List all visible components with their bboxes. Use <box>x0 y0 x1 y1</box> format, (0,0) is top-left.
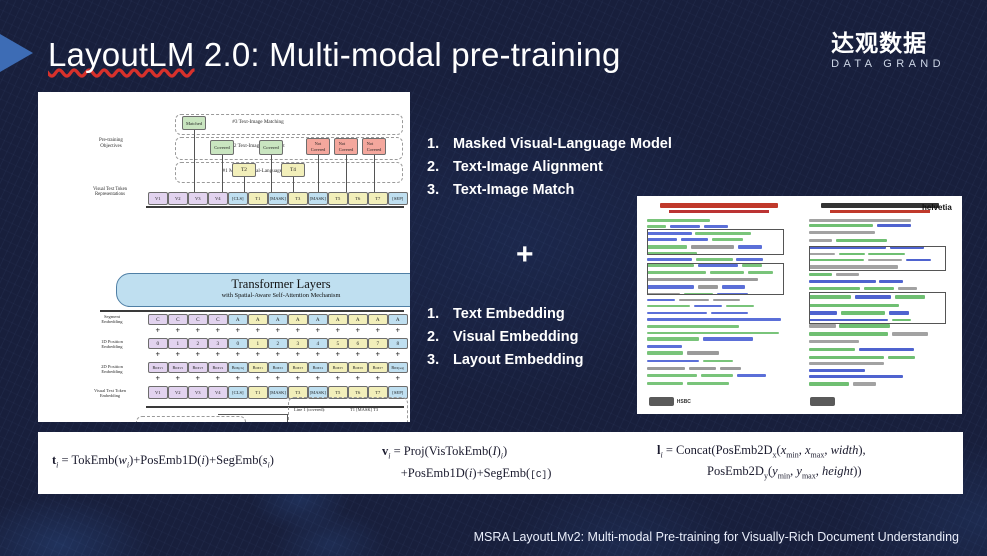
plus-sign: + <box>288 374 308 383</box>
page-title: LayoutLM 2.0: Multi-modal pre-training <box>48 36 621 74</box>
sample-doc-frame <box>647 229 784 254</box>
embedding-cell: 0 <box>148 338 168 349</box>
sample-doc-line <box>853 382 876 386</box>
bullet-item: 3.Text-Image Match <box>427 179 672 202</box>
plus-sign: + <box>288 350 308 359</box>
not-covered-box-3: Not Covered <box>362 138 386 155</box>
plus-sign: + <box>368 350 388 359</box>
plus-separator: + <box>516 238 534 272</box>
sample-doc-line <box>647 374 697 377</box>
ocr-line-2-tokens: [MASK] T5 T6 T7 <box>353 421 409 422</box>
covered-box-1: Covered <box>210 140 234 155</box>
bullet-item: 1.Text Embedding <box>427 303 584 326</box>
sample-doc-line <box>647 219 709 222</box>
bullet-number: 3. <box>427 349 453 372</box>
sample-doc-line <box>703 337 753 341</box>
embedding-cell: 2 <box>268 338 288 349</box>
bullet-number: 3. <box>427 179 453 202</box>
sample-doc-line <box>726 305 754 307</box>
sample-doc-line <box>737 374 766 377</box>
embedding-cell: T7 <box>368 192 388 205</box>
plus-sign: + <box>168 326 188 335</box>
bullet-label: Layout Embedding <box>453 349 584 372</box>
sample-doc-line <box>809 324 836 327</box>
embedding-cell: [MASK] <box>268 386 288 399</box>
plus-sign: + <box>228 326 248 335</box>
sample-doc-line <box>836 273 859 276</box>
connector-line <box>271 155 272 192</box>
sample-doc-line <box>704 225 728 228</box>
transformer-underline <box>100 310 404 312</box>
bullet-list-embeddings: 1.Text Embedding2.Visual Embedding3.Layo… <box>427 303 584 372</box>
plus-sign: + <box>328 326 348 335</box>
sample-doc-line <box>877 224 911 227</box>
embedding-cell: 3 <box>208 338 228 349</box>
sample-doc-line <box>647 225 666 228</box>
embedding-cell: T1 <box>248 386 268 399</box>
sample-doc-line <box>713 299 740 302</box>
embedding-cell: BoxV4 <box>208 362 228 373</box>
sample-doc-line <box>809 273 832 276</box>
bullet-label: Visual Embedding <box>453 326 578 349</box>
plus-sign: + <box>348 326 368 335</box>
embedding-cell: A <box>228 314 248 325</box>
bullet-number: 2. <box>427 156 453 179</box>
embedding-cell: V4 <box>208 386 228 399</box>
connector-line <box>287 414 288 422</box>
embedding-cell: [MASK] <box>308 192 328 205</box>
sample-doc-frame <box>809 246 946 271</box>
embedding-cell: A <box>248 314 268 325</box>
embedding-cell: Box[cls] <box>228 362 248 373</box>
embedding-cell: BoxV2 <box>168 362 188 373</box>
sample-document-right: helvetia <box>803 200 959 410</box>
transformer-layers-block: Transformer Layers with Spatial-Aware Se… <box>116 273 410 307</box>
sample-doc-line <box>670 225 700 228</box>
formula-visual-embedding: vi = Proj(VisTokEmb(I)i) +PosEmb1D(i)+Se… <box>382 443 657 483</box>
embedding-cell: V1 <box>148 386 168 399</box>
plus-sign: + <box>148 350 168 359</box>
bullet-number: 2. <box>427 326 453 349</box>
embedding-cell: 1 <box>168 338 188 349</box>
embedding-cell: BoxT7 <box>368 362 388 373</box>
sample-doc-line <box>809 280 876 284</box>
connector-line <box>293 177 294 192</box>
embedding-cell: A <box>328 314 348 325</box>
sample-doc-line <box>898 287 917 290</box>
sample-doc-line <box>647 337 699 341</box>
plus-sign: + <box>188 326 208 335</box>
sample-doc-title <box>660 203 778 208</box>
plus-sign: + <box>268 350 288 359</box>
sample-doc-line <box>809 348 856 351</box>
sample-doc-brand-helvetia: helvetia <box>922 203 952 212</box>
plus-sign: + <box>228 374 248 383</box>
side-label-visual-text-token-representations: Visual Text Token Representations <box>76 187 144 198</box>
plus-sign: + <box>288 326 308 335</box>
title-rest: 2.0: Multi-modal pre-training <box>195 36 621 73</box>
plus-sign: + <box>308 374 328 383</box>
sample-doc-line <box>809 382 850 386</box>
plus-sign: + <box>328 350 348 359</box>
side-label-2d-position-embedding: 2D Position Embedding <box>82 364 142 375</box>
plus-sign: + <box>188 374 208 383</box>
sample-doc-frame <box>809 292 946 324</box>
embedding-cell: A <box>368 314 388 325</box>
ocr-line-1: Line 1 (covered): <box>294 407 348 412</box>
plus-sign: + <box>168 374 188 383</box>
plus-sign: + <box>208 374 228 383</box>
plus-sign: + <box>348 374 368 383</box>
plus-sign: + <box>168 350 188 359</box>
sample-doc-line <box>736 258 763 261</box>
sample-doc-line <box>859 348 914 351</box>
embedding-cell: A <box>388 314 408 325</box>
embedding-cell: 1 <box>248 338 268 349</box>
sample-doc-line <box>689 367 716 371</box>
embedding-cell: BoxT1 <box>248 362 268 373</box>
sample-doc-line <box>809 231 875 234</box>
embedding-cell: 0 <box>228 338 248 349</box>
plus-sign: + <box>208 350 228 359</box>
brand-name-en: DATA GRAND <box>831 58 945 70</box>
sample-doc-line <box>647 360 699 363</box>
embedding-cell: 3 <box>288 338 308 349</box>
plus-sign: + <box>368 326 388 335</box>
sample-doc-line <box>647 258 691 261</box>
embedding-cell: C <box>168 314 188 325</box>
sample-doc-line <box>694 305 722 307</box>
sample-doc-line <box>809 340 859 344</box>
not-covered-box-1: Not Covered <box>306 138 330 155</box>
sample-doc-line <box>647 367 685 371</box>
sample-doc-line <box>809 362 884 364</box>
covered-box-2: Covered <box>259 140 283 155</box>
sample-doc-line <box>711 312 747 315</box>
embedding-cell: T1 <box>248 192 268 205</box>
embedding-cell: A <box>308 314 328 325</box>
sample-doc-line <box>701 374 733 377</box>
sample-doc-line <box>809 219 911 222</box>
embedding-cell: [CLS] <box>228 192 248 205</box>
plus-sign: + <box>388 350 408 359</box>
sample-doc-subtitle <box>830 210 930 213</box>
sample-doc-logo <box>810 397 835 405</box>
embedding-cell: V3 <box>188 192 208 205</box>
embedding-cell: BoxT2 <box>268 362 288 373</box>
bullet-list-objectives: 1.Masked Visual-Language Model2.Text-Ima… <box>427 133 672 202</box>
mlm-pred-t4: T4 <box>281 163 305 177</box>
sample-doc-line <box>809 356 884 360</box>
plus-sign: + <box>308 350 328 359</box>
sample-doc-line <box>696 258 733 261</box>
embedding-cell: A <box>268 314 288 325</box>
plus-sign: + <box>148 374 168 383</box>
side-label-pretraining-objectives: Pre-training Objectives <box>80 138 142 150</box>
embedding-cell: BoxT6 <box>348 362 368 373</box>
embedding-cell: BoxT5 <box>328 362 348 373</box>
sample-doc-line <box>809 375 904 378</box>
sample-doc-line <box>839 324 889 327</box>
objective-label-3: #3 Text-Image Matching <box>188 120 328 126</box>
plus-sign: + <box>348 350 368 359</box>
embedding-cell: [MASK] <box>268 192 288 205</box>
plus-sign: + <box>188 350 208 359</box>
sample-doc-frame <box>647 263 784 295</box>
bullet-number: 1. <box>427 133 453 156</box>
embedding-cell: BoxT4 <box>308 362 328 373</box>
bullet-label: Text-Image Match <box>453 179 574 202</box>
bullet-label: Text Embedding <box>453 303 565 326</box>
sample-doc-line <box>647 345 682 349</box>
title-spellcheck-word: LayoutLM <box>48 36 195 73</box>
sample-doc-subtitle <box>669 210 769 213</box>
embedding-cell: T6 <box>348 192 368 205</box>
embedding-cell: 4 <box>308 338 328 349</box>
embedding-cell: 5 <box>328 338 348 349</box>
plus-sign: + <box>268 326 288 335</box>
sample-doc-line <box>809 287 860 290</box>
embedding-cell: 8 <box>388 338 408 349</box>
transformer-subtitle: with Spatial-Aware Self-Attention Mechan… <box>117 292 410 300</box>
brand-logo: 达观数据 DATA GRAND <box>831 30 945 70</box>
accent-triangle-icon <box>0 34 33 72</box>
sample-doc-line <box>720 367 741 371</box>
sample-doc-line <box>647 325 739 327</box>
footer-caption: MSRA LayoutLMv2: Multi-modal Pre-trainin… <box>474 530 959 544</box>
connector-line <box>374 155 375 192</box>
feature-maps-region <box>136 416 246 422</box>
embedding-cell: [CLS] <box>228 386 248 399</box>
sample-doc-line <box>888 356 916 360</box>
sample-doc-line <box>864 287 894 290</box>
plus-sign: + <box>388 374 408 383</box>
slide-canvas: LayoutLM 2.0: Multi-modal pre-training 达… <box>0 0 987 556</box>
sample-doc-line <box>647 299 675 302</box>
side-label-segment-embedding: Segment Embedding <box>82 314 142 325</box>
bullet-item: 2.Text-Image Alignment <box>427 156 672 179</box>
plus-sign: + <box>148 326 168 335</box>
transformer-title: Transformer Layers <box>117 274 410 292</box>
sample-doc-line <box>879 280 903 284</box>
plus-sign: + <box>208 326 228 335</box>
sample-documents-panel: HSBC helvetia <box>637 196 962 414</box>
connector-line <box>218 414 288 415</box>
plus-sign: + <box>268 374 288 383</box>
connector-line <box>318 155 319 192</box>
plus-sign: + <box>368 374 388 383</box>
embedding-cell: A <box>288 314 308 325</box>
sample-doc-line <box>647 382 682 386</box>
brand-name-cn: 达观数据 <box>831 30 945 56</box>
sample-doc-line <box>836 239 887 242</box>
embedding-cell: V2 <box>168 386 188 399</box>
sample-doc-line <box>809 224 873 227</box>
plus-sign: + <box>248 350 268 359</box>
mlm-pred-t2: T2 <box>232 163 256 177</box>
embedding-cell: 7 <box>368 338 388 349</box>
connector-line <box>194 130 195 192</box>
plus-sign: + <box>228 350 248 359</box>
embedding-cell: T3 <box>288 192 308 205</box>
bullet-number: 1. <box>427 303 453 326</box>
ocr-line-1-tokens: T1 [MASK] T3 <box>350 407 406 412</box>
embedding-cell: BoxV1 <box>148 362 168 373</box>
embedding-cell: C <box>148 314 168 325</box>
sample-doc-line <box>809 369 865 373</box>
side-label-1d-position-embedding: 1D Position Embedding <box>82 339 142 350</box>
plus-sign: + <box>248 374 268 383</box>
embedding-cell: T5 <box>328 192 348 205</box>
sample-document-left: HSBC <box>641 200 797 410</box>
formula-text-embedding: ti = TokEmb(wi)+PosEmb1D(i)+SegEmb(si) <box>52 452 382 474</box>
embedding-cell: V3 <box>188 386 208 399</box>
sample-doc-line <box>703 360 733 363</box>
sample-doc-line <box>647 312 707 315</box>
embedding-cell: 6 <box>348 338 368 349</box>
sample-doc-line <box>809 239 832 242</box>
connector-line <box>346 155 347 192</box>
sample-doc-line <box>647 332 779 335</box>
bullet-item: 2.Visual Embedding <box>427 326 584 349</box>
embedding-cell: BoxT3 <box>288 362 308 373</box>
connector-line <box>222 155 223 192</box>
embedding-cell: 2 <box>188 338 208 349</box>
bullet-label: Text-Image Alignment <box>453 156 603 179</box>
bullet-item: 3.Layout Embedding <box>427 349 584 372</box>
bullet-item: 1.Masked Visual-Language Model <box>427 133 672 156</box>
embedding-cell: BoxV3 <box>188 362 208 373</box>
bullet-label: Masked Visual-Language Model <box>453 133 672 156</box>
side-label-visual-text-token-embedding: Visual Text Token Embedding <box>78 388 142 398</box>
embedding-cell: C <box>208 314 228 325</box>
plus-sign: + <box>308 326 328 335</box>
architecture-figure: #3 Text-Image Matching #2 Text-Image Ali… <box>38 92 410 422</box>
sample-doc-line <box>647 351 682 355</box>
formula-layout-embedding: li = Concat(PosEmb2Dx(xmin, xmax, width)… <box>657 442 866 485</box>
plus-sign: + <box>248 326 268 335</box>
sample-doc-line <box>687 351 719 355</box>
not-covered-box-2: Not Covered <box>334 138 358 155</box>
embedding-cell: V1 <box>148 192 168 205</box>
formula-panel: ti = TokEmb(wi)+PosEmb1D(i)+SegEmb(si) v… <box>38 432 963 494</box>
embedding-cell: [SEP] <box>388 192 408 205</box>
sample-doc-logo <box>649 397 674 405</box>
sample-doc-line <box>687 382 730 386</box>
objective-label-1: #1 Masked Visual-Language Modeling <box>183 169 343 175</box>
plus-sign: + <box>388 326 408 335</box>
embedding-cell: V4 <box>208 192 228 205</box>
embedding-cell: V2 <box>168 192 188 205</box>
embedding-cell: C <box>188 314 208 325</box>
sample-doc-line <box>679 299 709 302</box>
sample-doc-line <box>809 332 889 336</box>
ocr-line-2: Line 2 (not covered): <box>294 421 354 422</box>
connector-line <box>244 177 245 192</box>
sample-doc-brand-hsbc: HSBC <box>677 399 691 405</box>
embedding-cell: A <box>348 314 368 325</box>
matched-box: Matched <box>182 116 206 130</box>
sample-doc-line <box>647 305 690 307</box>
sample-doc-line <box>647 318 781 321</box>
plus-sign: + <box>328 374 348 383</box>
embedding-cell: Box[sep] <box>388 362 408 373</box>
sample-doc-line <box>892 332 927 336</box>
token-row-underline <box>146 206 404 208</box>
